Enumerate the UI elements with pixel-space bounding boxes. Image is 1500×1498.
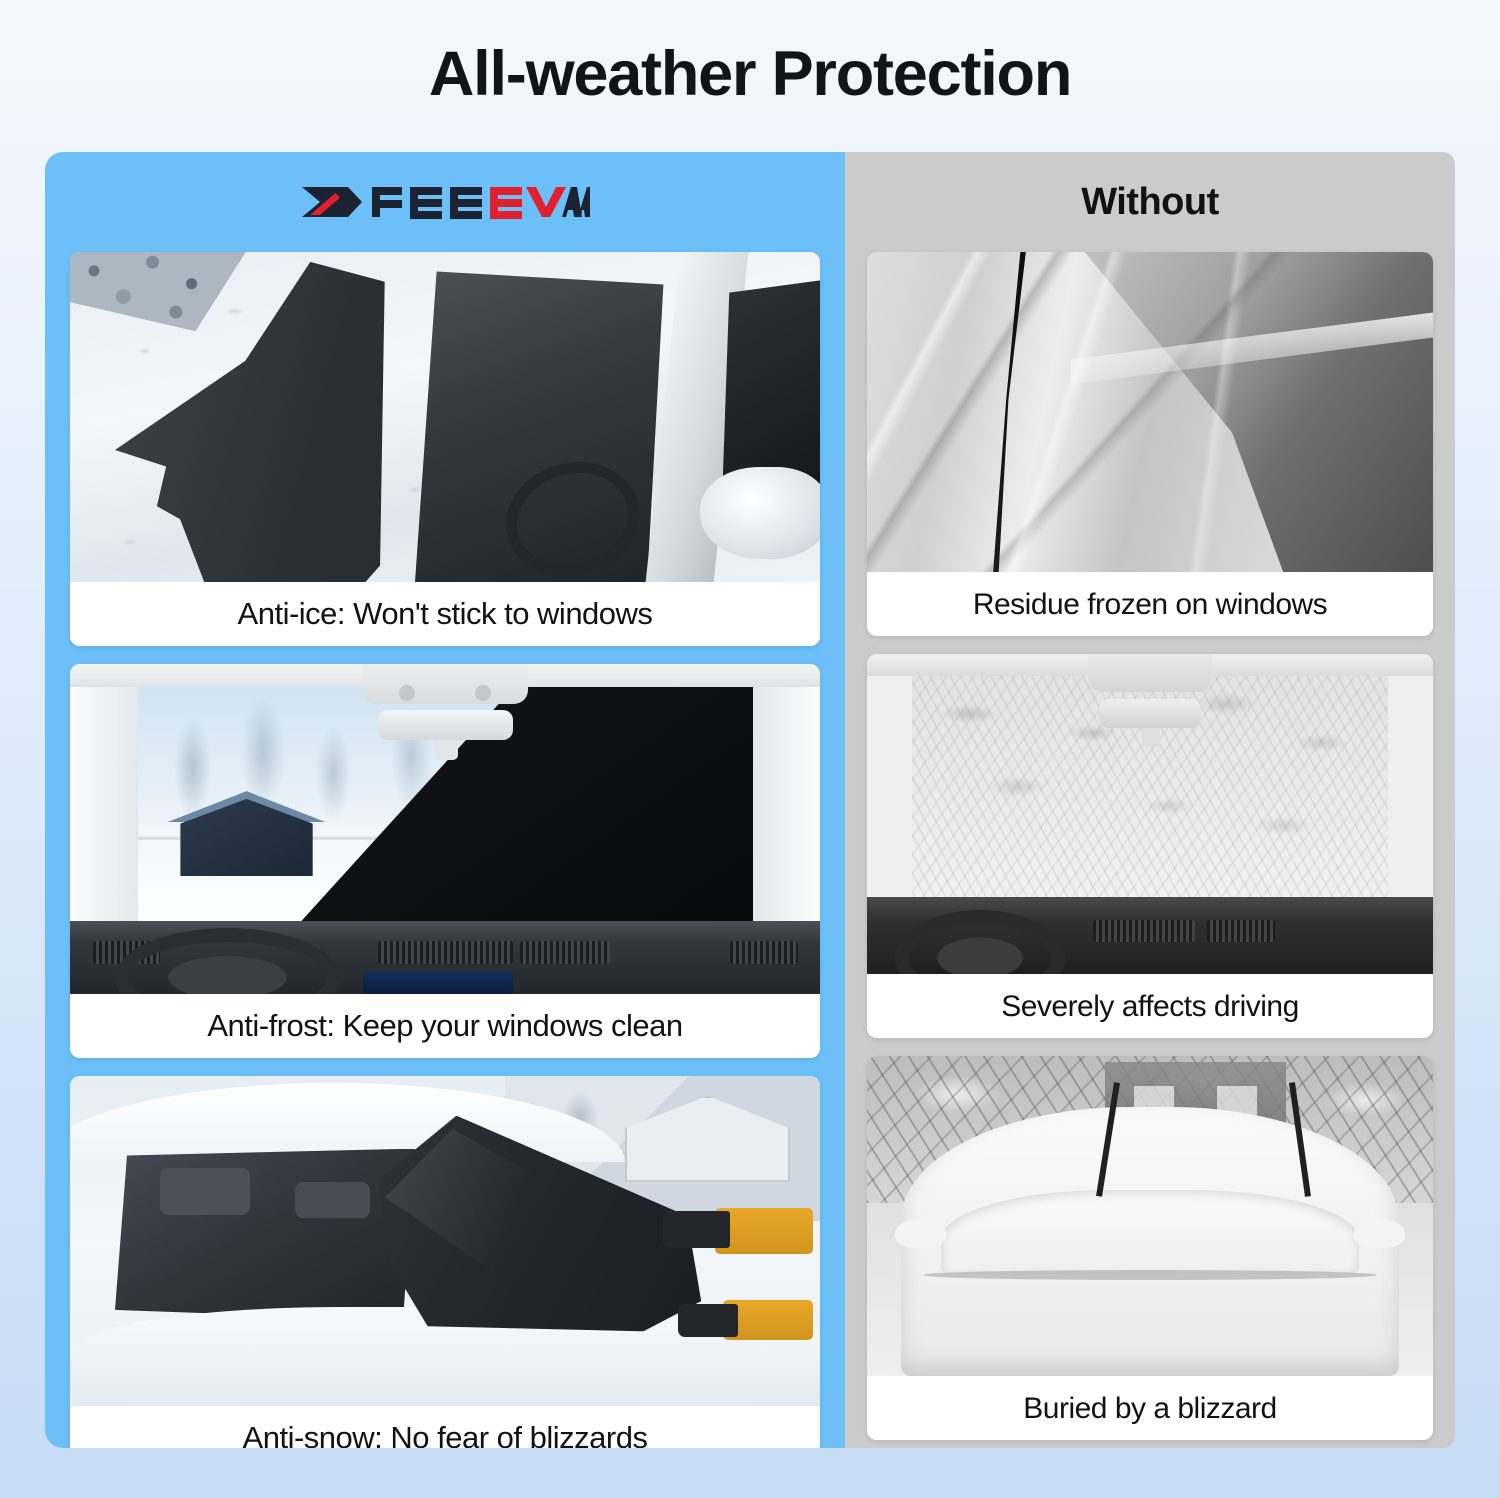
left-panel-with-product: Anti-ice: Won't stick to windows (45, 152, 845, 1448)
photo-anti-ice (70, 252, 820, 582)
comparison-panels: Anti-ice: Won't stick to windows (45, 152, 1455, 1448)
photo-anti-snow (70, 1076, 820, 1406)
card-anti-ice: Anti-ice: Won't stick to windows (70, 252, 820, 646)
caption-affects-driving: Severely affects driving (867, 974, 1433, 1038)
photo-anti-frost (70, 664, 820, 994)
card-residue-frozen: Residue frozen on windows (867, 252, 1433, 636)
right-panel-without-product: Without Residue frozen on windows (845, 152, 1455, 1448)
right-panel-header: Without (845, 152, 1455, 252)
card-anti-snow: Anti-snow: No fear of blizzards (70, 1076, 820, 1448)
left-card-list: Anti-ice: Won't stick to windows (45, 252, 845, 1448)
caption-anti-ice: Anti-ice: Won't stick to windows (70, 582, 820, 646)
photo-buried-blizzard (867, 1056, 1433, 1376)
title-bar: All-weather Protection (0, 0, 1500, 148)
dreevaa-brand-logo (300, 179, 590, 225)
left-panel-header (45, 152, 845, 252)
caption-residue-frozen: Residue frozen on windows (867, 572, 1433, 636)
photo-residue-frozen (867, 252, 1433, 572)
photo-affects-driving (867, 654, 1433, 974)
caption-anti-frost: Anti-frost: Keep your windows clean (70, 994, 820, 1058)
card-anti-frost: Anti-frost: Keep your windows clean (70, 664, 820, 1058)
caption-buried-blizzard: Buried by a blizzard (867, 1376, 1433, 1440)
card-affects-driving: Severely affects driving (867, 654, 1433, 1038)
page-title: All-weather Protection (429, 38, 1071, 110)
right-card-list: Residue frozen on windows (845, 252, 1455, 1448)
brand-logo-icon (300, 179, 590, 225)
caption-anti-snow: Anti-snow: No fear of blizzards (70, 1406, 820, 1448)
card-buried-blizzard: Buried by a blizzard (867, 1056, 1433, 1440)
without-label: Without (1081, 181, 1219, 224)
